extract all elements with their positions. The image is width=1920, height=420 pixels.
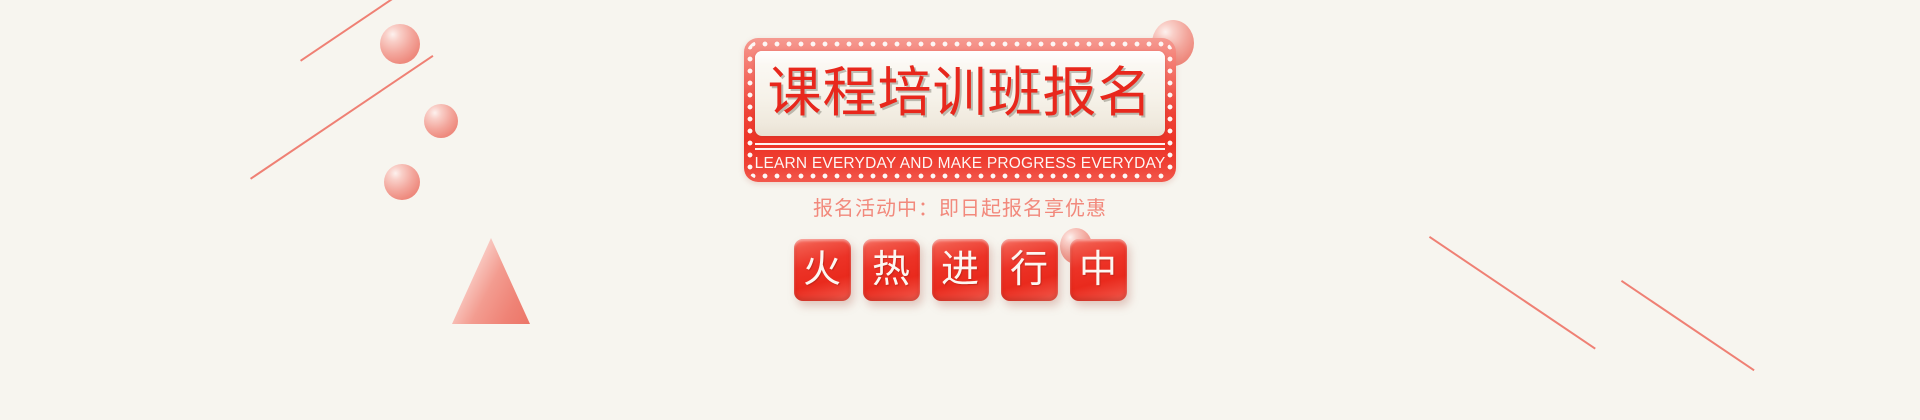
status-tile-row: 火 热 进 行 中 [794,239,1127,301]
plaque-body: 课程培训班报名 LEARN EVERYDAY AND MAKE PROGRESS… [755,49,1165,171]
promo-tagline: 报名活动中：即日起报名享优惠 [813,199,1107,219]
divider-line-bottom [755,148,1165,150]
status-tile: 中 [1070,239,1127,301]
status-tile: 热 [863,239,920,301]
promo-banner: 课程培训班报名 LEARN EVERYDAY AND MAKE PROGRESS… [0,0,1920,420]
divider-group [755,143,1165,150]
status-tile-char: 进 [941,251,979,289]
divider-line-top [755,143,1165,145]
status-tile: 行 [1001,239,1058,301]
page-title: 课程培训班报名 [768,66,1153,120]
status-tile-char: 中 [1079,251,1117,289]
english-subtitle: LEARN EVERYDAY AND MAKE PROGRESS EVERYDA… [755,156,1166,172]
title-plaque: 课程培训班报名 LEARN EVERYDAY AND MAKE PROGRESS… [744,38,1176,182]
status-tile-char: 行 [1010,251,1048,289]
banner-content: 课程培训班报名 LEARN EVERYDAY AND MAKE PROGRESS… [0,0,1920,420]
status-tile-char: 火 [803,251,841,289]
status-tile: 火 [794,239,851,301]
status-tile-char: 热 [872,251,910,289]
title-panel: 课程培训班报名 [755,51,1165,136]
status-tile: 进 [932,239,989,301]
